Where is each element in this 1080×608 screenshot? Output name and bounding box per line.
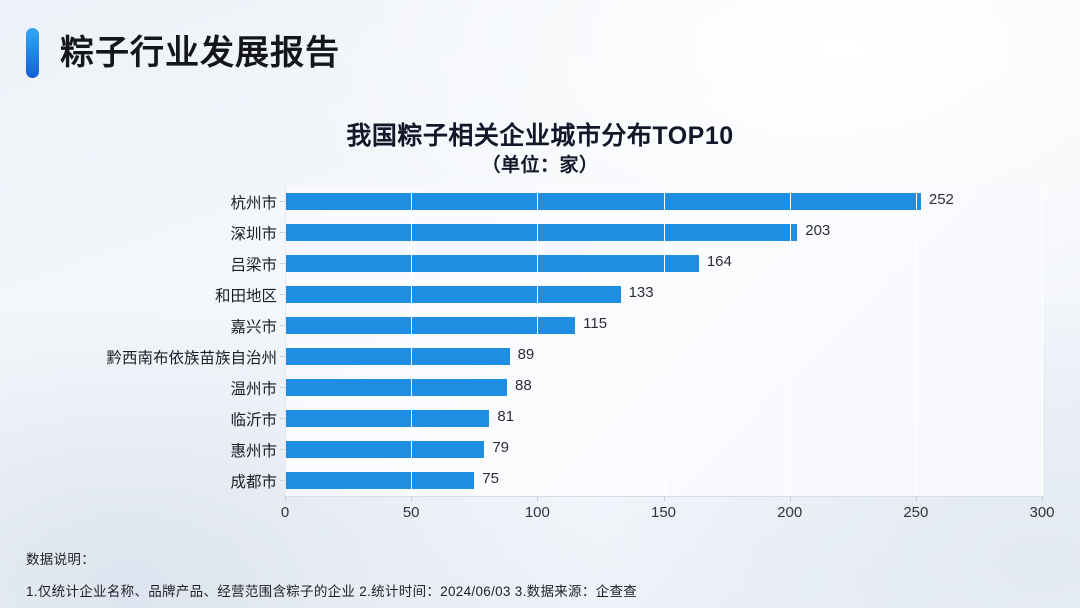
notes-heading: 数据说明： <box>26 548 1056 568</box>
header-accent-bar <box>26 28 39 78</box>
bar-value-label: 79 <box>492 439 509 456</box>
gridline-250 <box>916 186 917 496</box>
x-tick-label: 200 <box>777 504 802 521</box>
bar[interactable] <box>285 410 489 427</box>
x-tick-mark <box>1042 496 1043 501</box>
x-tick-mark <box>790 496 791 501</box>
gridline-300 <box>1042 186 1043 496</box>
gridline-200 <box>790 186 791 496</box>
page-header: 粽子行业发展报告 <box>0 0 1080 104</box>
page-title: 粽子行业发展报告 <box>60 28 340 78</box>
bar[interactable] <box>285 379 507 396</box>
bar-value-label: 88 <box>515 377 532 394</box>
x-tick-label: 50 <box>403 504 420 521</box>
bar[interactable] <box>285 472 474 489</box>
bar[interactable] <box>285 317 575 334</box>
bar-chart: 2522031641331158988817975 <box>0 186 1080 536</box>
gridline-50 <box>411 186 412 496</box>
gridline-0 <box>285 186 286 496</box>
x-tick-label: 250 <box>903 504 928 521</box>
bar-value-label: 89 <box>518 346 535 363</box>
notes-line: 1.仅统计企业名称、品牌产品、经营范围含粽子的企业 2.统计时间：2024/06… <box>26 580 1056 600</box>
bar-value-label: 133 <box>629 284 654 301</box>
chart-title: 我国粽子相关企业城市分布TOP10 <box>0 116 1080 152</box>
x-tick-mark <box>664 496 665 501</box>
bar-value-label: 75 <box>482 470 499 487</box>
gridline-100 <box>537 186 538 496</box>
bar-value-label: 203 <box>805 222 830 239</box>
bar-value-label: 252 <box>929 191 954 208</box>
bar[interactable] <box>285 348 510 365</box>
bar-value-label: 115 <box>583 315 607 332</box>
bar[interactable] <box>285 286 621 303</box>
bar-value-label: 81 <box>497 408 514 425</box>
x-tick-label: 0 <box>281 504 289 521</box>
bar[interactable] <box>285 224 797 241</box>
bar-value-label: 164 <box>707 253 732 270</box>
x-tick-label: 300 <box>1029 504 1054 521</box>
chart-subtitle: （单位：家） <box>0 150 1080 177</box>
data-notes: 数据说明： 1.仅统计企业名称、品牌产品、经营范围含粽子的企业 2.统计时间：2… <box>26 548 1056 600</box>
plot-area: 2522031641331158988817975 <box>285 186 1042 496</box>
x-axis: 050100150200250300 <box>285 496 1042 536</box>
bar[interactable] <box>285 193 921 210</box>
bar[interactable] <box>285 255 699 272</box>
x-tick-label: 100 <box>525 504 550 521</box>
x-tick-label: 150 <box>651 504 676 521</box>
gridline-150 <box>664 186 665 496</box>
x-tick-mark <box>537 496 538 501</box>
x-tick-mark <box>916 496 917 501</box>
x-tick-mark <box>285 496 286 501</box>
bar[interactable] <box>285 441 484 458</box>
x-tick-mark <box>411 496 412 501</box>
